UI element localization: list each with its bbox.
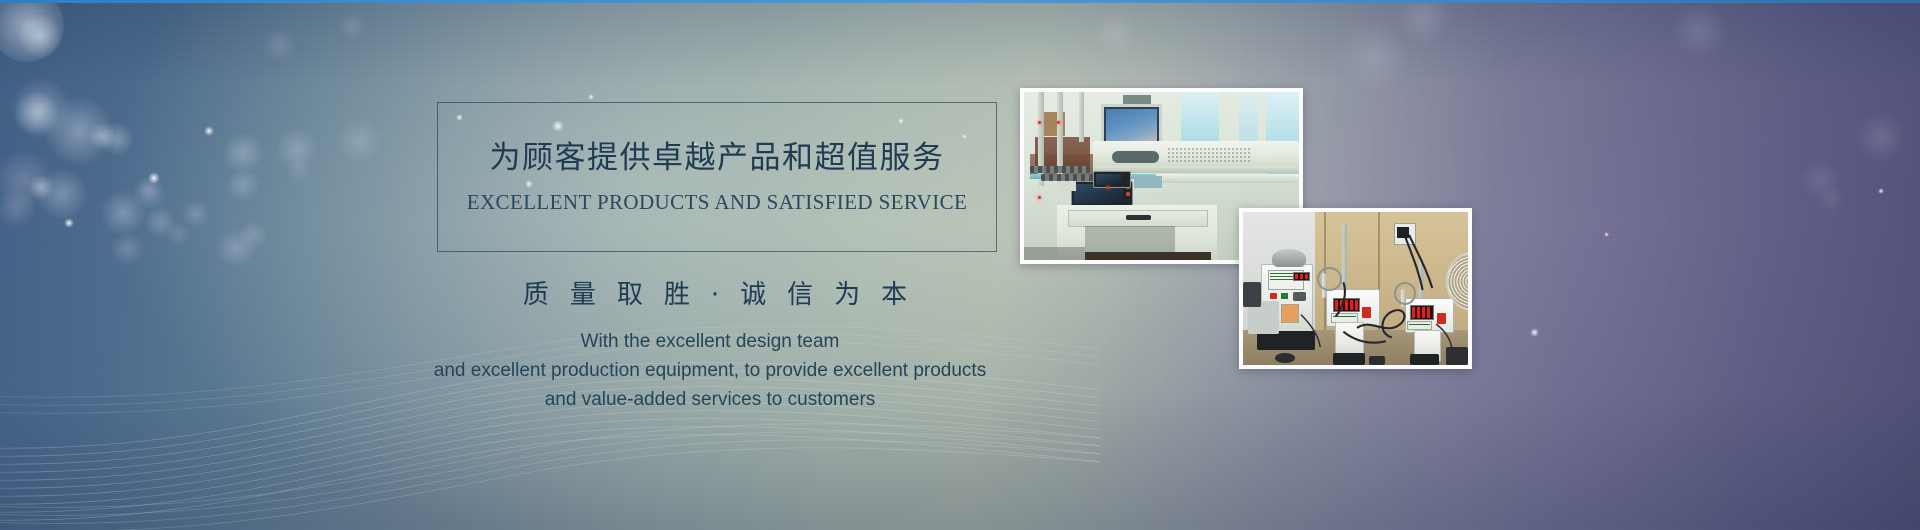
photo1-equipment-box xyxy=(1134,176,1162,188)
photo1-cable-chain xyxy=(1030,166,1091,173)
photo2-floor-object xyxy=(1369,356,1385,365)
headline-column: 为顾客提供卓越产品和超值服务 EXCELLENT PRODUCTS AND SA… xyxy=(0,0,1030,530)
slogan-chinese: 质量取胜·诚信为本 xyxy=(390,274,1040,311)
photo1-floor-shadow xyxy=(1085,252,1212,260)
photo-press-machines xyxy=(1239,208,1472,369)
photo1-indicator-light xyxy=(1038,196,1041,199)
photo1-indicator-light xyxy=(1107,186,1110,189)
photo1-controller-screen xyxy=(1096,174,1121,185)
description-line-3: and value-added services to customers xyxy=(280,385,1140,414)
photo1-machine-vent xyxy=(1167,147,1250,162)
description-paragraph: With the excellent design team and excel… xyxy=(280,327,1140,414)
photo1-conveyor-rail xyxy=(1156,174,1299,182)
headline-chinese: 为顾客提供卓越产品和超值服务 xyxy=(437,132,997,177)
photo1-vertical-rail xyxy=(1079,92,1084,142)
photo1-floor-shadow xyxy=(1024,247,1085,260)
photo1-indicator-light xyxy=(1038,121,1041,124)
photo1-monitor-bracket xyxy=(1123,95,1151,103)
photo2-cable-overlay xyxy=(1243,212,1468,365)
photo1-machine-window xyxy=(1112,151,1159,163)
headline-frame xyxy=(437,102,997,252)
photo1-controller xyxy=(1093,171,1131,188)
photo1-cable-chain xyxy=(1041,174,1096,181)
photo1-indicator-light xyxy=(1057,121,1060,124)
description-line-2: and excellent production equipment, to p… xyxy=(280,356,1140,385)
photo1-drawer-handle xyxy=(1126,215,1151,220)
photo-press-machines-image xyxy=(1243,212,1468,365)
headline-english: EXCELLENT PRODUCTS AND SATISFIED SERVICE xyxy=(437,190,997,215)
description-line-1: With the excellent design team xyxy=(280,327,1140,356)
photo1-equipment-box xyxy=(1057,181,1076,191)
photo2-floor-object xyxy=(1446,347,1469,365)
photo1-controller-button xyxy=(1126,192,1130,196)
promo-banner: 为顾客提供卓越产品和超值服务 EXCELLENT PRODUCTS AND SA… xyxy=(0,0,1920,530)
